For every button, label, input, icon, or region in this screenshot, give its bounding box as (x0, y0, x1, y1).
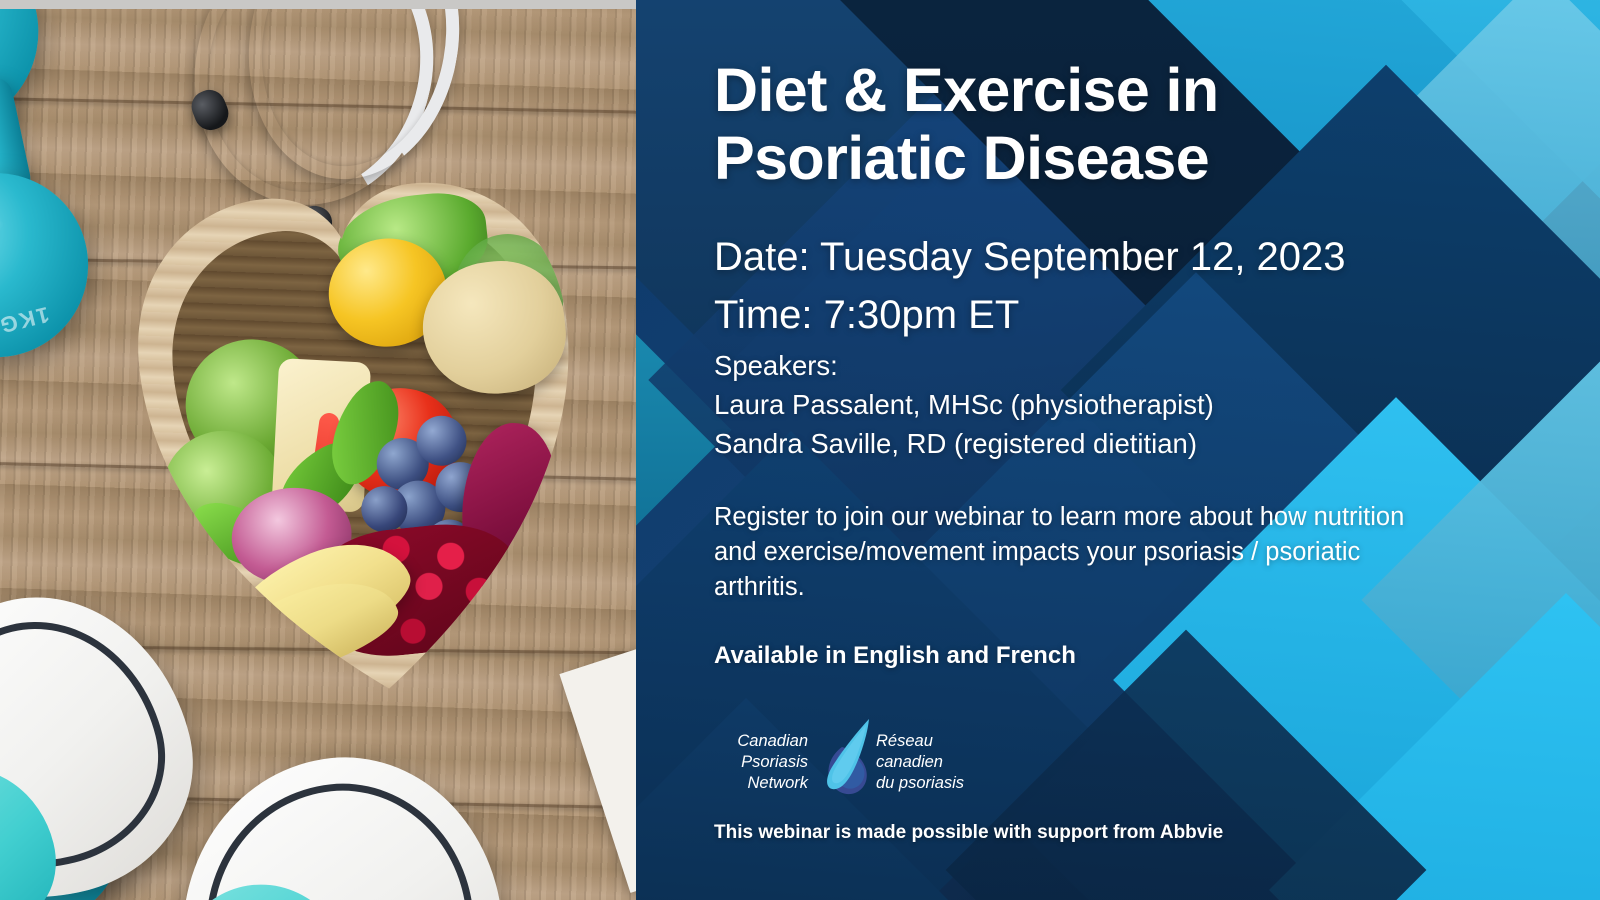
speakers-heading: Speakers: (714, 347, 1564, 386)
hero-photo: 1KG 1KG (0, 0, 636, 900)
webinar-promo-poster: 1KG 1KG (0, 0, 1600, 900)
support-note: This webinar is made possible with suppo… (714, 822, 1223, 844)
logo-fr-line-2: canadien (876, 752, 998, 773)
cpn-logo[interactable]: Canadian Psoriasis Network Réseau canadi… (708, 725, 998, 813)
heart-shaped-bowl (122, 159, 604, 721)
logo-fr-line-1: Réseau (876, 731, 998, 752)
title-line-1: Diet & Exercise in (714, 56, 1564, 124)
event-date: Date: Tuesday September 12, 2023 (714, 228, 1564, 286)
title-line-2: Psoriatic Disease (714, 124, 1564, 192)
logo-en-line-1: Canadian (708, 731, 808, 752)
content-panel: Diet & Exercise in Psoriatic Disease Dat… (636, 0, 1600, 900)
logo-en-line-3: Network (708, 773, 808, 794)
page-title: Diet & Exercise in Psoriatic Disease (714, 56, 1564, 193)
logo-en-line-2: Psoriasis (708, 752, 808, 773)
logo-text-english: Canadian Psoriasis Network (708, 731, 808, 793)
availability-note: Available in English and French (714, 642, 1076, 670)
speakers-block: Speakers: Laura Passalent, MHSc (physiot… (714, 347, 1564, 463)
speaker-item: Laura Passalent, MHSc (physiotherapist) (714, 386, 1564, 425)
speaker-item: Sandra Saville, RD (registered dietitian… (714, 425, 1564, 464)
top-gray-strip (0, 0, 636, 9)
logo-fr-line-3: du psoriasis (876, 773, 998, 794)
event-time: Time: 7:30pm ET (714, 286, 1564, 344)
event-description: Register to join our webinar to learn mo… (714, 500, 1444, 606)
event-datetime: Date: Tuesday September 12, 2023 Time: 7… (714, 228, 1564, 344)
logo-text-french: Réseau canadien du psoriasis (876, 731, 998, 793)
swoosh-droplet-icon (812, 713, 874, 801)
